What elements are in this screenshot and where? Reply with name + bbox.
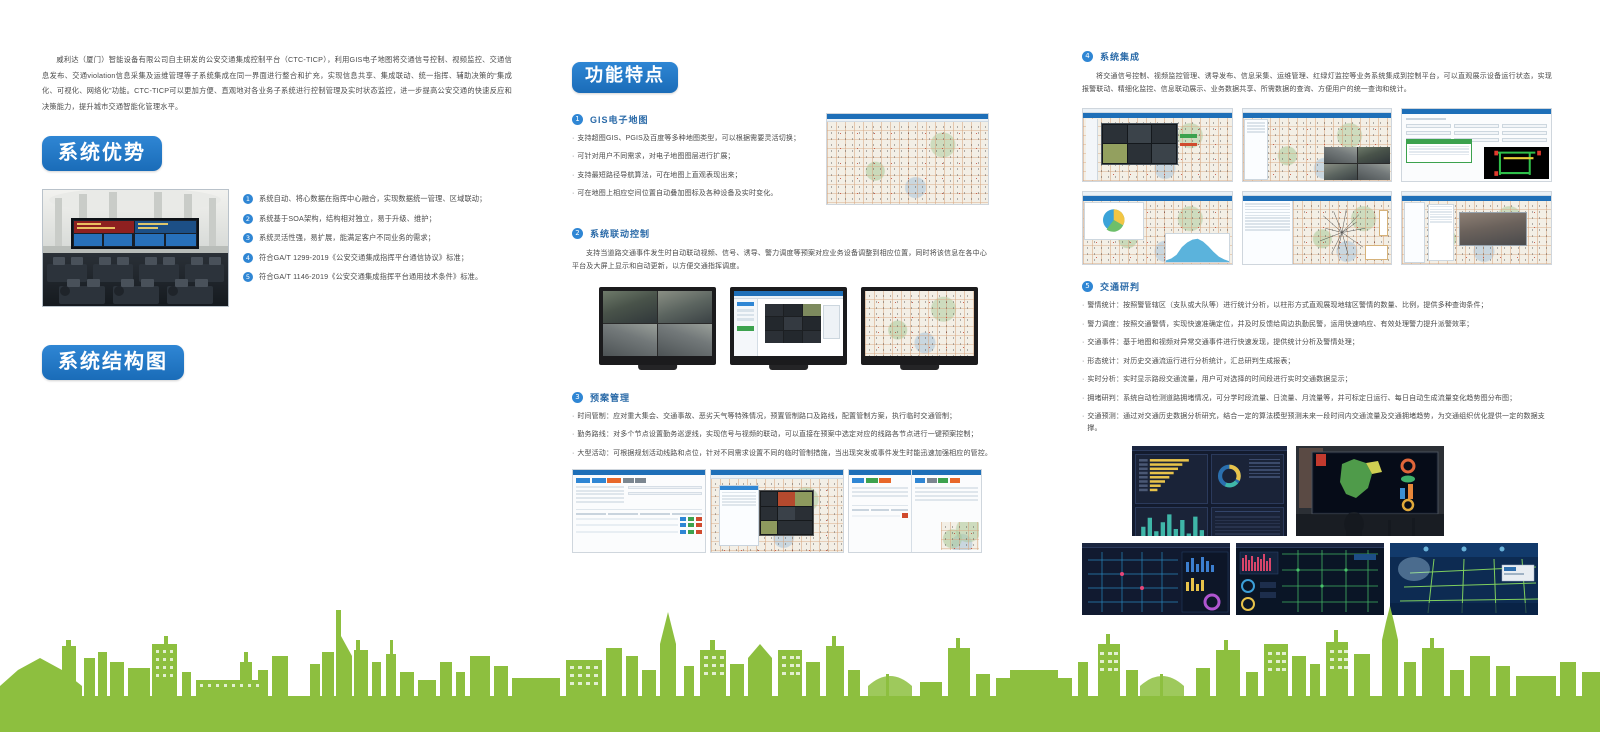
left-rail: [1086, 119, 1098, 180]
section-header: 5 交通研判: [1082, 280, 1552, 293]
dropdown-menu[interactable]: [1406, 139, 1471, 163]
sidebar-panel: [734, 299, 758, 356]
bullet-number: 1: [243, 194, 253, 204]
bullet-item: ·拥堵研判：系统自动检测道路拥堵情况，可分学时段流量、日流量、月流量等，并可标定…: [1082, 393, 1552, 405]
monitor-stand: [900, 365, 940, 370]
section-traffic-analysis: 5 交通研判 ·警情统计：按照警管辖区（支队或大队等）进行统计分析，以柱形方式直…: [1082, 280, 1552, 615]
bullet-number: 4: [243, 253, 253, 263]
screenshot-pie-flow: [1082, 191, 1233, 265]
bullet-item: · 时间管制：应对重大集会、交通事故、恶劣天气等特殊情况，预置管制路口及路线，配…: [572, 411, 1012, 423]
dashboard-card-table: [1211, 507, 1284, 536]
advantages-row: 1 系统自动、将心数据在指挥中心融合，实现数据统一管理、区域联动； 2 系统基于…: [42, 189, 542, 307]
dashboard-card-bars: [1135, 507, 1208, 536]
monitor-software: [730, 287, 847, 365]
bullet-item: · 支持最短路径导航算法，可在地图上直观表现出来；: [572, 170, 812, 182]
bullet-text: 支持超图GIS、PGIS及百度等多种地图类型，可以根据需要灵活切换；: [577, 133, 800, 145]
dashboard-card-donut: [1211, 454, 1284, 504]
map-legend: [1365, 245, 1389, 260]
section-linkage-control: 2 系统联动控制 支持当道路交通事件发生时自动联动视频、信号、诱导、警力调度等预…: [572, 227, 1012, 375]
list-item-text: 符合GA/T 1299-2019《公安交通集成指挥平台通信协议》标准；: [259, 252, 468, 263]
phase-diagram: [1484, 147, 1549, 179]
gis-map-screenshot: [826, 113, 989, 205]
bullet-number: 3: [243, 233, 253, 243]
tree-panel: [1404, 202, 1425, 263]
section-title: 系统联动控制: [590, 227, 650, 240]
dashboard-traffic-data: [1132, 446, 1287, 536]
map-thumb: [941, 522, 979, 550]
section-number: 4: [1082, 51, 1093, 62]
plan-map-screenshot: [710, 469, 844, 553]
bullet-number: 2: [243, 214, 253, 224]
bullet-number: 5: [243, 272, 253, 282]
section-title-functional-features: 功能特点: [572, 62, 678, 93]
network-map-panel: [1293, 201, 1391, 264]
dashboard-row-top: [1132, 446, 1552, 536]
bullet-text: 交通预测：通过对交通历史数据分析研究，结合一定的算法模型预测未来一段时间内交通流…: [1087, 411, 1552, 434]
status-badge: [1180, 134, 1198, 137]
bullet-marker: ·: [572, 188, 574, 199]
tree-panel: [1244, 119, 1268, 180]
flow-chart-panel: [1165, 233, 1230, 263]
map-canvas: [865, 291, 974, 356]
integration-screenshot-grid: [1082, 108, 1552, 265]
section-gis-map: 1 GIS电子地图 · 支持超图GIS、PGIS及百度等多种地图类型，可以根据需…: [572, 113, 1012, 207]
screenshot-live-video: [1401, 191, 1552, 265]
monitor-gis: [861, 287, 978, 365]
section-paragraph: 将交通信号控制、视频监控管理、诱导发布、信息采集、运维管理、红绿灯监控等业务系统…: [1082, 70, 1552, 96]
plan-list-screenshot: [572, 469, 706, 553]
cctv-tile: [1324, 164, 1356, 180]
bullet-item: · 可在地图上相应空间位置自动叠加图标及各种设备及实时变化。: [572, 188, 812, 200]
section-title: 系统集成: [1100, 50, 1140, 63]
pie-chart-panel: [1084, 202, 1143, 240]
bullet-marker: ·: [1082, 393, 1084, 404]
screenshot-video-map: [1242, 108, 1393, 182]
cctv-tile: [1358, 147, 1390, 163]
section-paragraph: 支持当道路交通事件发生时自动联动视频、信号、诱导、警力调度等预案对应业务设备调整…: [572, 247, 987, 273]
section-number: 1: [572, 114, 583, 125]
section-system-advantages: 系统优势: [42, 136, 542, 307]
list-item: 2 系统基于SOA架构，结构相对独立，易于升级、维护；: [243, 213, 533, 224]
monitor-stand: [769, 365, 809, 370]
bullet-marker: ·: [1082, 337, 1084, 348]
bullet-text: 实时分析：实时显示路段交通流量，用户可对选择的时间段进行实时交通数据显示；: [1087, 374, 1352, 386]
bullet-item: · 支持超图GIS、PGIS及百度等多种地图类型，可以根据需要灵活切换；: [572, 133, 812, 145]
monitor-cctv: [599, 287, 716, 365]
bullet-marker: ·: [1082, 374, 1084, 385]
cctv-tile: [1358, 164, 1390, 180]
bullet-text: 警力调度：按照交通警情，实现快速准确定位，并及时反馈给周边执勤民警，运用快速响应…: [1087, 319, 1473, 331]
brochure-page: 威利达（厦门）智能设备有限公司自主研发的公安交通集成控制平台（CTC-TICP）…: [0, 0, 1600, 732]
middle-column: 功能特点 1 GIS电子地图 · 支持超图GIS、PGIS及百度等多种地图类型，…: [572, 0, 1012, 553]
cctv-tile: [1324, 147, 1356, 163]
list-item-text: 系统基于SOA架构，结构相对独立，易于升级、维护；: [259, 213, 436, 224]
status-badge: [1180, 143, 1198, 146]
cctv-tile: [603, 291, 657, 323]
bullet-item: ·警情统计：按照警管辖区（支队或大队等）进行统计分析，以柱形方式直观展现地辖区警…: [1082, 300, 1552, 312]
bullet-text: 可在地图上相应空间位置自动叠加图标及各种设备及实时变化。: [577, 188, 777, 200]
right-column: 4 系统集成 将交通信号控制、视频监控管理、诱导发布、信息采集、运维管理、红绿灯…: [1082, 0, 1552, 615]
section-plan-management: 3 预案管理 · 时间管制：应对重大集会、交通事故、恶劣天气等特殊情况，预置管制…: [572, 391, 1012, 554]
cctv-tile: [603, 324, 657, 356]
section-title-system-advantages: 系统优势: [42, 136, 162, 171]
bullet-marker: ·: [572, 429, 574, 440]
map-canvas: [827, 122, 988, 204]
section-header: 4 系统集成: [1082, 50, 1552, 63]
bullet-text: 形态统计：对历史交通流运行进行分析统计，汇总研判生成报表；: [1087, 356, 1294, 368]
list-item-text: 符合GA/T 1146-2019《公安交通集成指挥平台通用技术条件》标准。: [259, 271, 482, 282]
left-column: 威利达（厦门）智能设备有限公司自主研发的公安交通集成控制平台（CTC-TICP）…: [42, 0, 542, 545]
control-room-photo: [42, 189, 229, 307]
bullet-item: ·警力调度：按照交通警情，实现快速准确定位，并及时反馈给周边执勤民警，运用快速响…: [1082, 319, 1552, 331]
skyline-footer: [0, 600, 1600, 732]
bullet-marker: ·: [572, 151, 574, 162]
monitor-stand: [638, 365, 678, 370]
intersection-overlay: [759, 490, 814, 536]
bullet-text: 警情统计：按照警管辖区（支队或大队等）进行统计分析，以柱形方式直观展现地辖区警情…: [1087, 300, 1487, 312]
bullet-item: ·实时分析：实时显示路段交通流量，用户可对选择的时间段进行实时交通数据显示；: [1082, 374, 1552, 386]
device-list-panel: [1243, 201, 1294, 264]
bullet-text: 支持最短路径导航算法，可在地图上直观表现出来；: [577, 170, 741, 182]
photo-command-center-bigscreen: [1296, 446, 1444, 536]
bullet-item: · 可针对用户不同需求，对电子地图图层进行扩展；: [572, 151, 812, 163]
bullet-marker: ·: [572, 411, 574, 422]
section-number: 5: [1082, 281, 1093, 292]
bullet-marker: ·: [1082, 300, 1084, 311]
screenshot-device-network: [1242, 191, 1393, 265]
plan-screenshot-row: [572, 469, 1012, 553]
section-title-system-architecture: 系统结构图: [42, 345, 184, 380]
bullet-item: · 大型活动：可根据规划活动线路和点位，针对不同需求设置不同的临时管制措施，当出…: [572, 448, 1012, 460]
section-title: GIS电子地图: [590, 113, 649, 126]
section-title: 预案管理: [590, 391, 630, 404]
bullet-text: 交通事件：基于地图和视频对异常交通事件进行快速发现，提供统计分析及警情处理；: [1087, 337, 1359, 349]
section-header: 2 系统联动控制: [572, 227, 1012, 240]
bullet-marker: ·: [1082, 411, 1084, 422]
section-header: 1 GIS电子地图: [572, 113, 812, 126]
monitor-row: [572, 287, 1012, 375]
bullet-item: · 勤务路线：对多个节点设置勤务巡逻线，实现信号与视频的联动，可以直接在预案中选…: [572, 429, 1012, 441]
bullet-text: 时间管制：应对重大集会、交通事故、恶劣天气等特殊情况，预置管制路口及路线，配置管…: [577, 411, 956, 423]
map-toolbar[interactable]: [1379, 210, 1389, 236]
section-title: 交通研判: [1100, 280, 1140, 293]
cctv-tile: [658, 324, 712, 356]
section-number: 3: [572, 392, 583, 403]
bullet-marker: ·: [572, 133, 574, 144]
intro-paragraph: 威利达（厦门）智能设备有限公司自主研发的公安交通集成控制平台（CTC-TICP）…: [42, 52, 512, 114]
plan-config-screenshot: [848, 469, 982, 553]
city-skyline-illustration: [0, 600, 1600, 732]
video-popup: [1459, 212, 1527, 246]
section-header: 3 预案管理: [572, 391, 1012, 404]
bullet-text: 大型活动：可根据规划活动线路和点位，针对不同需求设置不同的临时管制措施，当出现突…: [577, 448, 992, 460]
bullet-item: ·交通事件：基于地图和视频对异常交通事件进行快速发现，提供统计分析及警情处理；: [1082, 337, 1552, 349]
bullet-marker: ·: [572, 170, 574, 181]
dashboard-card-barlist: [1135, 454, 1208, 504]
section-number: 2: [572, 228, 583, 239]
list-item: 1 系统自动、将心数据在指挥中心融合，实现数据统一管理、区域联动；: [243, 193, 533, 204]
advantages-list: 1 系统自动、将心数据在指挥中心融合，实现数据统一管理、区域联动； 2 系统基于…: [243, 189, 533, 307]
phase-diagram-panel: [758, 299, 843, 356]
bullet-marker: ·: [572, 448, 574, 459]
tree-panel: [719, 485, 759, 547]
bullet-text: 拥堵研判：系统自动检测道路拥堵情况，可分学时段流量、日流量、月流量等，并可标定日…: [1087, 393, 1516, 405]
bullet-marker: ·: [1082, 356, 1084, 367]
screenshot-timing-phase: [1401, 108, 1552, 182]
cctv-tile: [658, 291, 712, 323]
list-item-text: 系统自动、将心数据在指挥中心融合，实现数据统一管理、区域联动；: [259, 193, 486, 204]
bullet-text: 可针对用户不同需求，对电子地图图层进行扩展；: [577, 151, 734, 163]
bullet-text: 勤务路线：对多个节点设置勤务巡逻线，实现信号与视频的联动，可以直接在预案中选定对…: [577, 429, 977, 441]
functional-features-header: 功能特点: [572, 62, 1012, 93]
list-item-text: 系统灵活性强，易扩展，能满足客户不同业务的需求；: [259, 232, 435, 243]
control-room-illustration: [43, 190, 228, 306]
list-item: 3 系统灵活性强，易扩展，能满足客户不同业务的需求；: [243, 232, 533, 243]
device-table: [1428, 204, 1455, 262]
screenshot-signal-map: [1082, 108, 1233, 182]
list-item: 5 符合GA/T 1146-2019《公安交通集成指挥平台通用技术条件》标准。: [243, 271, 533, 282]
list-item: 4 符合GA/T 1299-2019《公安交通集成指挥平台通信协议》标准；: [243, 252, 533, 263]
video-wall-overlay: [1324, 147, 1389, 180]
bullet-item: ·形态统计：对历史交通流运行进行分析统计，汇总研判生成报表；: [1082, 356, 1552, 368]
bullet-marker: ·: [1082, 319, 1084, 330]
section-system-architecture: 系统结构图 交通行业标准体系 网络信息安全保障体系 展示层 集成 管控 可视 指…: [42, 345, 542, 545]
bullet-item: ·交通预测：通过对交通历史数据分析研究，结合一定的算法模型预测未来一段时间内交通…: [1082, 411, 1552, 434]
section-system-integration: 4 系统集成 将交通信号控制、视频监控管理、诱导发布、信息采集、运维管理、红绿灯…: [1082, 50, 1552, 265]
intersection-overlay: [1101, 123, 1178, 165]
